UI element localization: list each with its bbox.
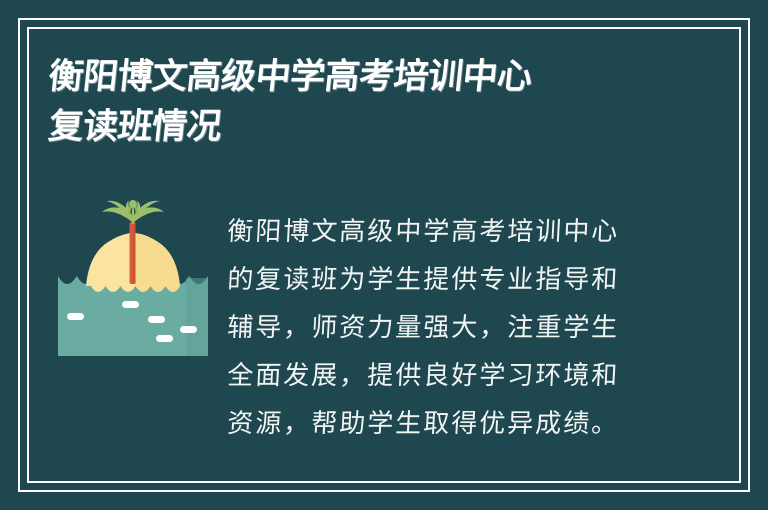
promo-card: 衡阳博文高级中学高考培训中心 复读班情况 (0, 0, 768, 510)
title-line-1: 衡阳博文高级中学高考培训中心 (46, 52, 746, 102)
palm-tree-island-icon (58, 200, 208, 356)
body-line-2: 的复读班为学生提供专业指导和 (226, 256, 669, 304)
page-title: 衡阳博文高级中学高考培训中心 复读班情况 (46, 52, 746, 152)
body-line-1: 衡阳博文高级中学高考培训中心 (226, 208, 669, 256)
body-line-3: 辅导，师资力量强大，注重学生 (226, 304, 669, 352)
body-line-5: 资源，帮助学生取得优异成绩。 (226, 400, 669, 448)
title-line-2: 复读班情况 (46, 102, 746, 152)
body-paragraph: 衡阳博文高级中学高考培训中心 的复读班为学生提供专业指导和 辅导，师资力量强大，… (226, 208, 666, 448)
body-line-4: 全面发展，提供良好学习环境和 (226, 352, 669, 400)
